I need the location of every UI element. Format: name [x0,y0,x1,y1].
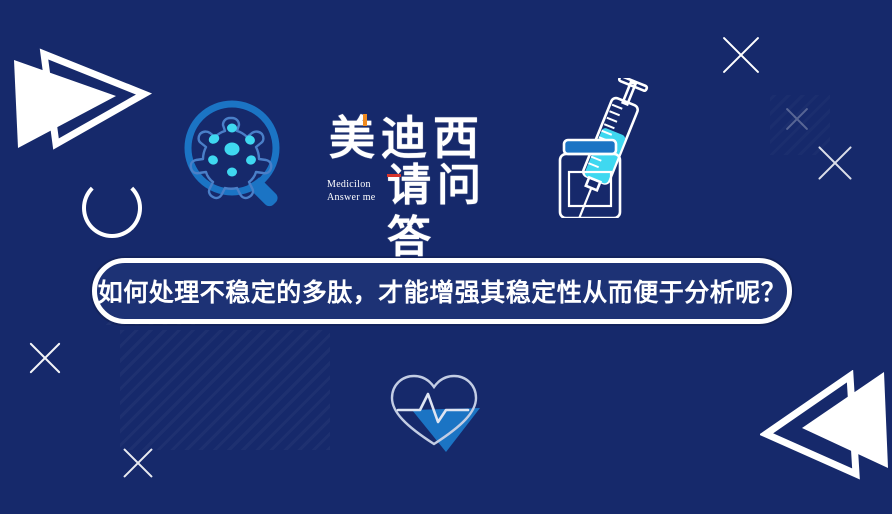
triangle-pair-right [4,22,154,152]
logo-orange-accent [363,114,367,126]
logo-english-text: Medicilon Answer me [327,178,376,204]
question-text: 如何处理不稳定的多肽，才能增强其稳定性从而便于分析呢？ [98,273,787,309]
arc-u-shape-icon [82,178,142,238]
x-mark-right-upper [782,104,812,134]
logo-chinese-line2: 请问答 [387,160,525,264]
logo-red-accent [387,174,401,177]
triangle-pair-left [760,370,892,488]
logo-english-line1: Medicilon [327,178,376,191]
x-mark-right-middle [812,140,858,186]
syringe-vial-icon [552,78,672,218]
magnifier-virus-icon [180,96,300,216]
logo-chinese-text: 美迪西 请问答 [325,112,525,237]
diagonal-stripes-texture [120,330,330,450]
heart-pulse-icon [382,368,492,453]
logo-chinese-line1: 美迪西 [329,112,485,164]
medicilon-logo: 美迪西 请问答 Medicilon Answer me [325,112,525,237]
poster-canvas: 美迪西 请问答 Medicilon Answer me 如何处理不稳定的多肽，才… [0,0,892,514]
x-mark-bottom-left-lower [118,443,158,483]
x-mark-top-right [716,30,766,80]
question-banner: 如何处理不稳定的多肽，才能增强其稳定性从而便于分析呢？ [92,258,792,324]
logo-english-line2: Answer me [327,191,376,204]
x-mark-bottom-left [24,337,66,379]
